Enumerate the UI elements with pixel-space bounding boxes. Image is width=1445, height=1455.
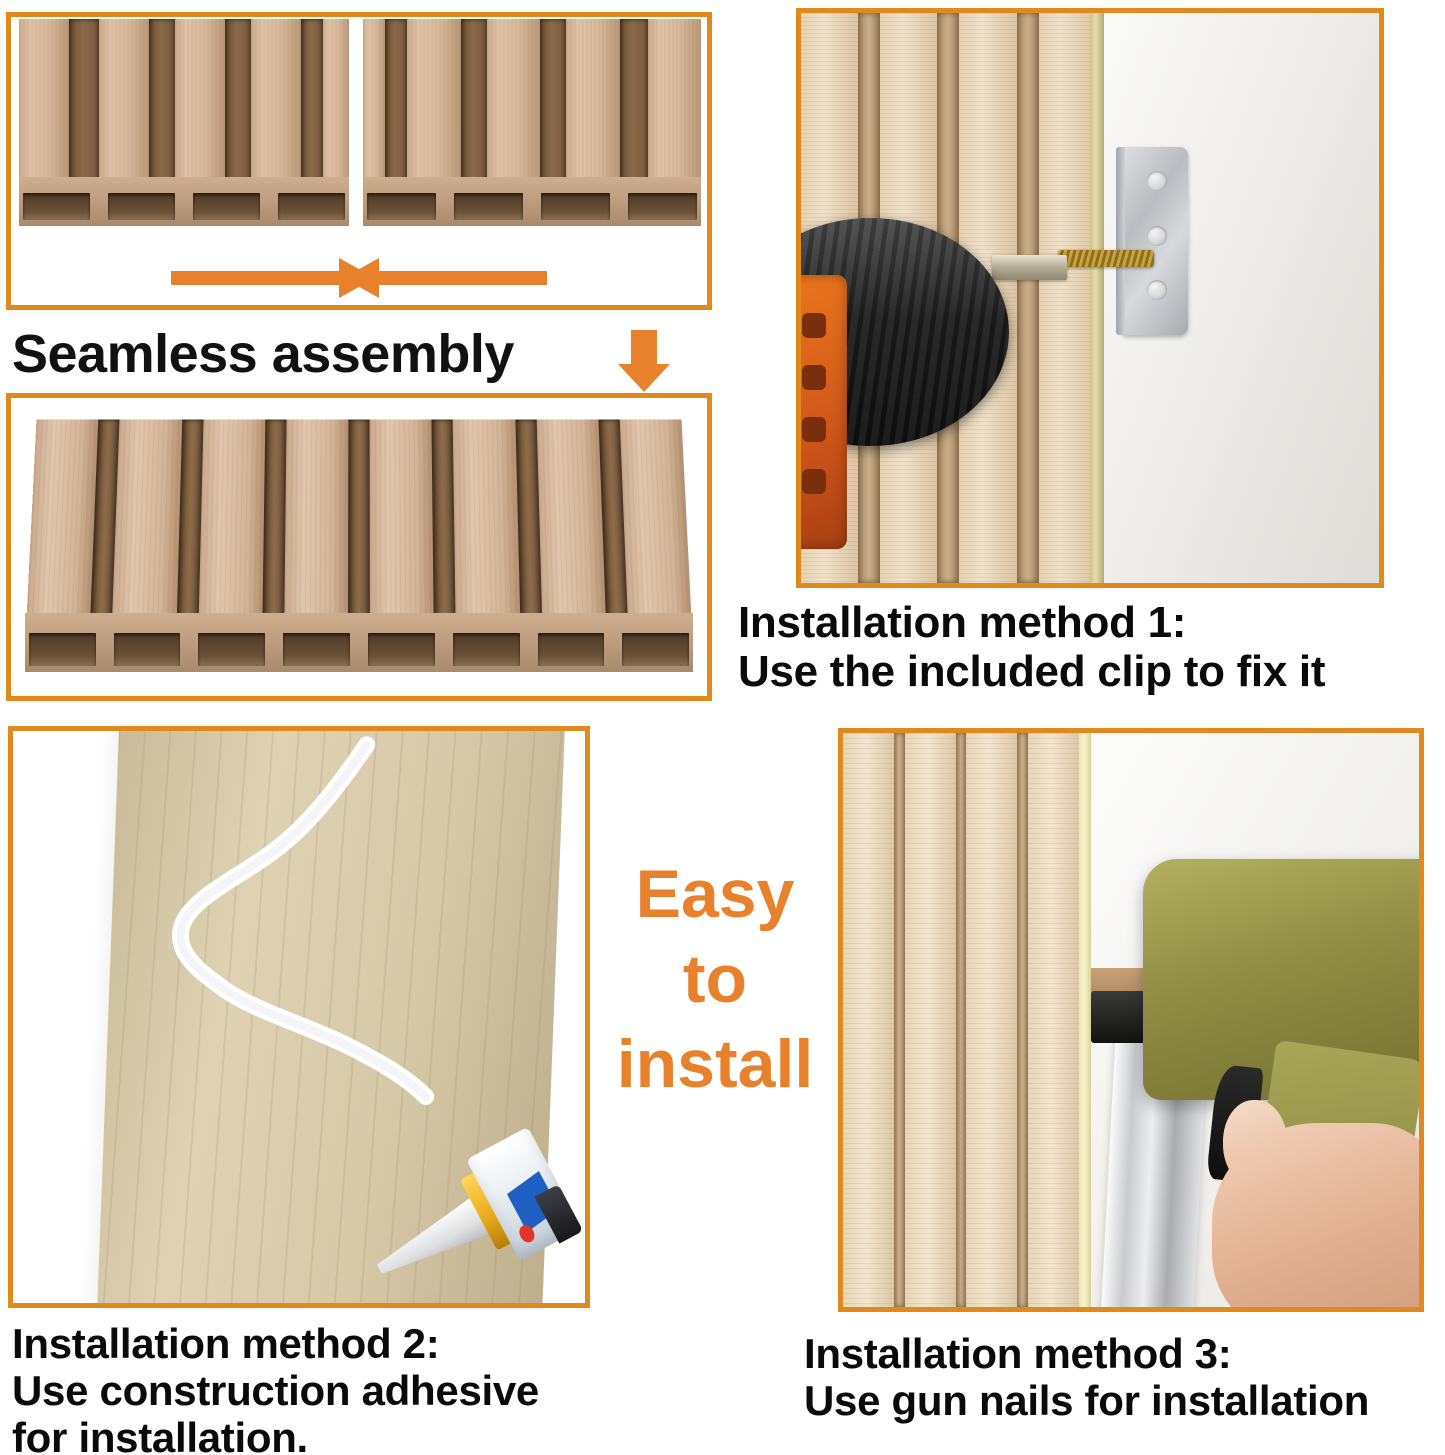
caption-line: Use the included clip to fix it [738, 647, 1325, 696]
slat-groove [1017, 13, 1039, 583]
hollow-cavity [29, 633, 96, 666]
hollow-cavity [538, 633, 605, 666]
down-arrow-icon [631, 330, 657, 364]
nail-gun-scene: S [843, 733, 1419, 1307]
panel-edge-strip [1079, 733, 1091, 1307]
drill-body [796, 275, 847, 549]
hollow-cavity [198, 633, 265, 666]
hollow-cavity [278, 193, 345, 220]
caption-line: Use construction adhesive [12, 1367, 539, 1414]
hollow-cavity [453, 633, 520, 666]
caption-line: for installation. [12, 1414, 539, 1455]
infographic-root: Seamless assembly [0, 0, 1445, 1455]
drill-clip-scene [801, 13, 1379, 583]
headline-band: Seamless assembly [12, 318, 712, 390]
clip-lip [1116, 147, 1125, 335]
slat [905, 733, 956, 1307]
caption-line: Use gun nails for installation [804, 1377, 1369, 1424]
slat-board-left [19, 19, 349, 226]
method-2-photo [8, 726, 590, 1308]
method-2-caption: Installation method 2: Use construction … [12, 1320, 539, 1455]
assembled-board-rail [25, 613, 693, 673]
assembled-panel-photo [6, 393, 712, 701]
easy-to-install-callout: Easy to install [600, 852, 830, 1107]
panel-edge-strip [1090, 13, 1104, 583]
hollow-cavity [454, 193, 523, 220]
arrow-right-icon [171, 271, 341, 285]
clip-screw-hole [1147, 226, 1167, 246]
slat [1028, 733, 1079, 1307]
slat [1039, 13, 1096, 583]
caption-line: Installation method 1: [738, 598, 1325, 647]
hollow-cavity [114, 633, 181, 666]
operator-hand [1212, 1123, 1419, 1307]
board-bottom-rail-right [363, 177, 701, 227]
hollow-cavity [23, 193, 90, 220]
hollow-cavity [108, 193, 175, 220]
arrow-left-icon [377, 271, 547, 285]
board-bottom-rail-left [19, 177, 349, 227]
assembly-photo-panel [6, 12, 712, 310]
caption-line: Installation method 3: [804, 1330, 1369, 1377]
clip-screw-hole [1147, 171, 1167, 191]
hollow-cavity [622, 633, 689, 666]
screw [1058, 250, 1153, 268]
caption-line: Installation method 2: [12, 1320, 539, 1367]
drill-vent [802, 313, 826, 338]
slat [966, 733, 1017, 1307]
drill-vent [802, 365, 826, 390]
hollow-cavity [541, 193, 610, 220]
hollow-cavity [367, 193, 436, 220]
slat-board-right [363, 19, 701, 226]
slat-groove [894, 733, 905, 1307]
callout-line: Easy [600, 852, 830, 937]
adhesive-scene [13, 731, 585, 1303]
slat-groove [956, 733, 967, 1307]
drill-vent [802, 469, 826, 494]
hollow-cavity [628, 193, 697, 220]
assembled-board-illustration [11, 398, 707, 696]
method-3-photo: S [838, 728, 1424, 1312]
drill-vent [802, 417, 826, 442]
callout-line: install [600, 1022, 830, 1107]
method-3-caption: Installation method 3: Use gun nails for… [804, 1330, 1369, 1424]
hollow-cavity [283, 633, 350, 666]
slat [843, 733, 894, 1307]
wall-panel-slats [843, 733, 1079, 1307]
drill-bit [992, 255, 1067, 280]
method-1-photo [796, 8, 1384, 588]
hollow-cavity [368, 633, 435, 666]
clip-screw-hole [1147, 280, 1167, 300]
page-title: Seamless assembly [12, 323, 514, 385]
assembly-direction-arrows [11, 271, 707, 285]
method-1-caption: Installation method 1: Use the included … [738, 598, 1325, 697]
hollow-cavity [193, 193, 260, 220]
callout-line: to [600, 937, 830, 1022]
slat-groove [1017, 733, 1028, 1307]
slat-boards-illustration [11, 17, 707, 305]
metal-clip [1122, 147, 1188, 335]
